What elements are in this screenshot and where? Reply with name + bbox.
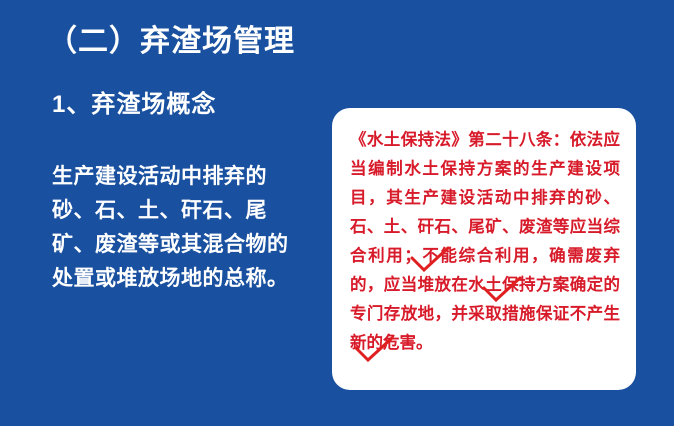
section-subtitle: 1、弃渣场概念	[52, 84, 216, 119]
concept-body-text: 生产建设活动中排弃的砂、石、土、矸石、尾矿、废渣等或其混合物的处置或堆放场地的总…	[52, 160, 300, 296]
slide: （二）弃渣场管理 1、弃渣场概念 生产建设活动中排弃的砂、石、土、矸石、尾矿、废…	[0, 0, 674, 435]
page-title: （二）弃渣场管理	[47, 16, 295, 60]
law-quote-text: 《水土保持法》第二十八条：依法应当编制水土保持方案的生产建设项目，其生产建设活动…	[350, 126, 620, 358]
bottom-strip	[0, 426, 674, 435]
law-quote-card: 《水土保持法》第二十八条：依法应当编制水土保持方案的生产建设项目，其生产建设活动…	[332, 108, 636, 390]
